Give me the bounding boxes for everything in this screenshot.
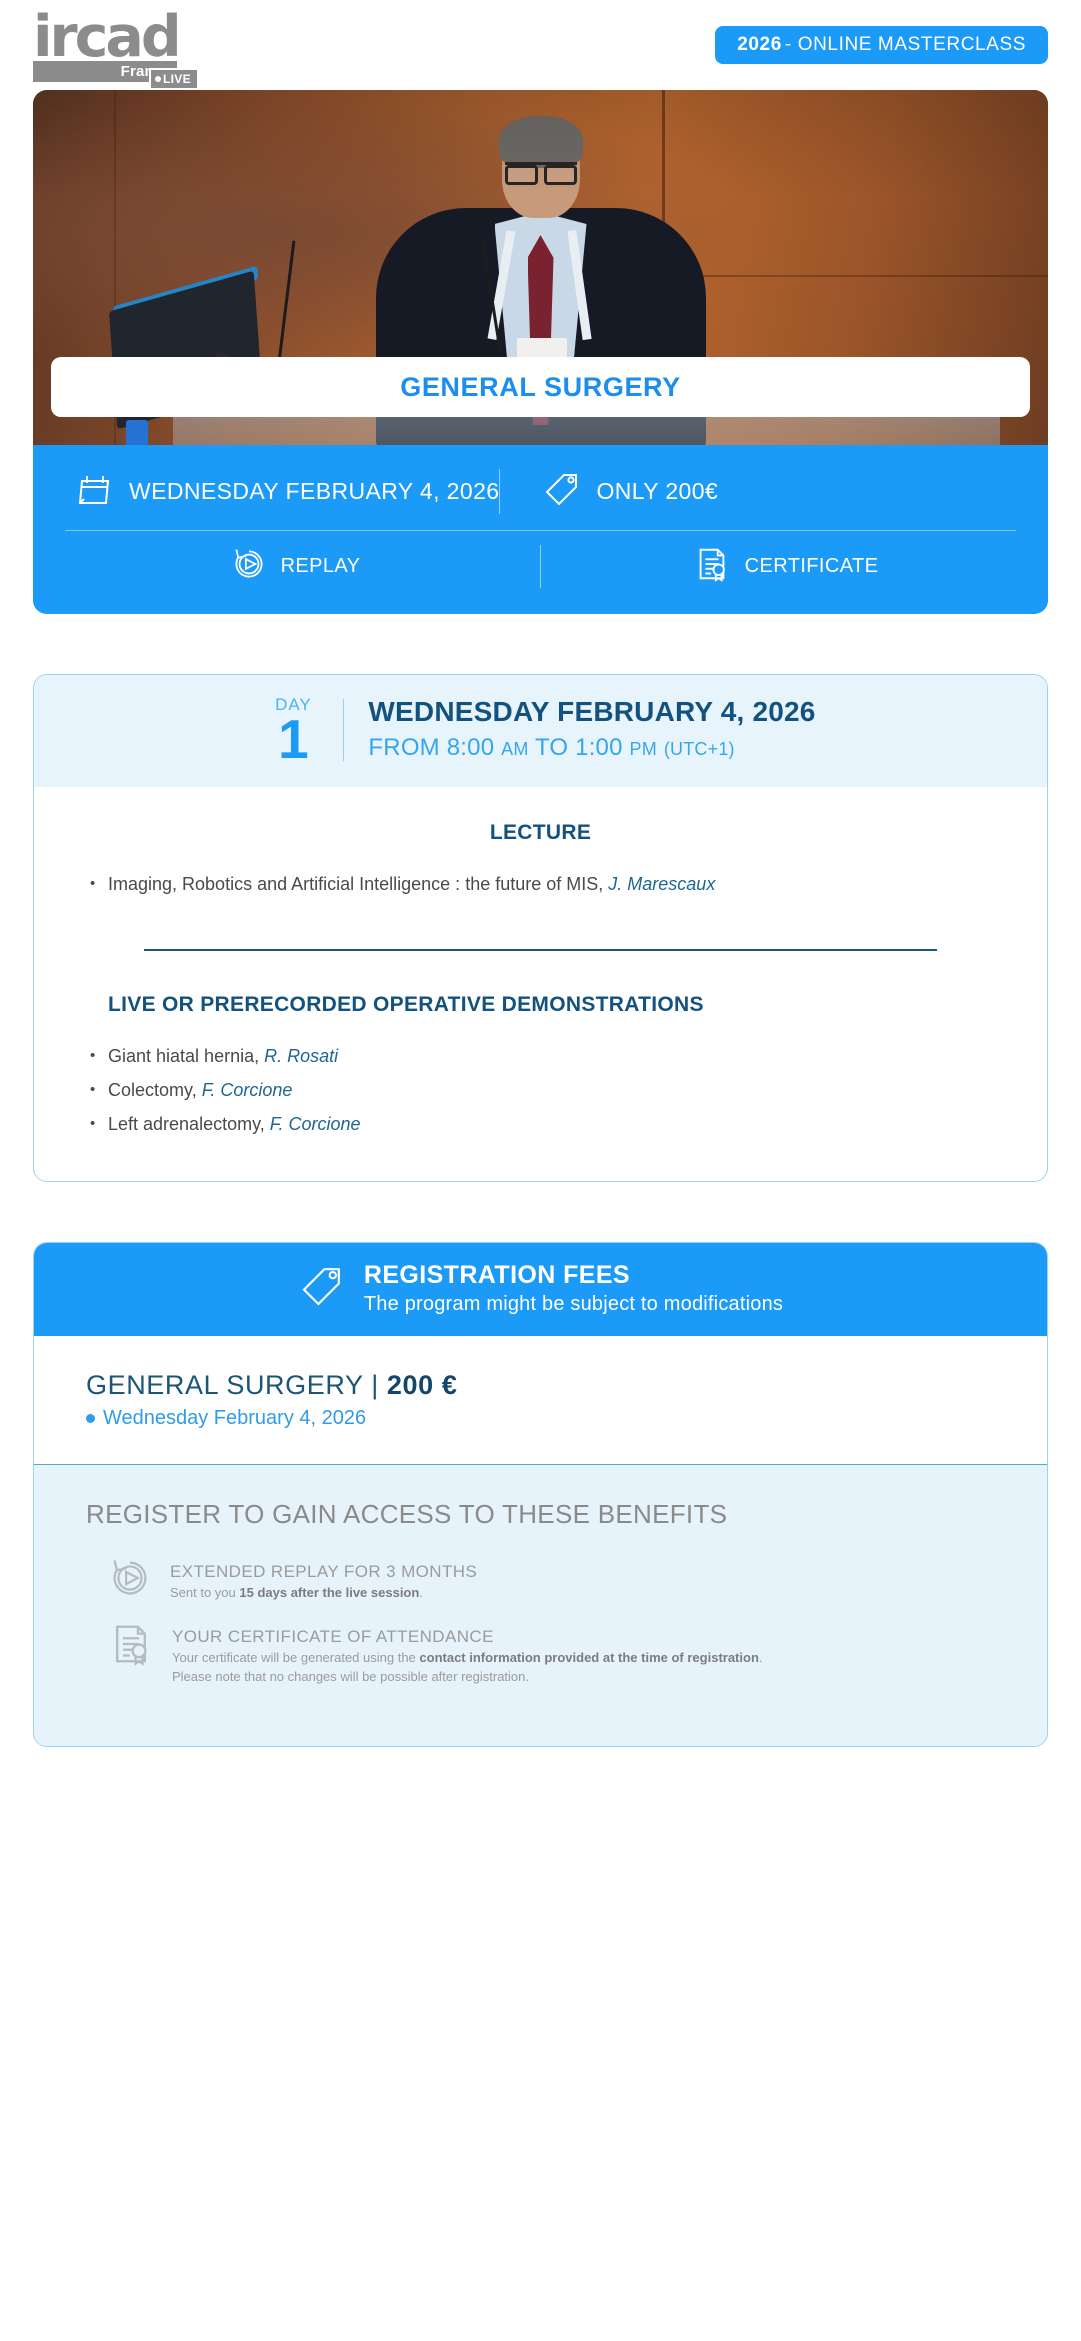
fee-date-row: Wednesday February 4, 2026	[86, 1407, 995, 1430]
program-body: LECTURE Imaging, Robotics and Artificial…	[34, 787, 1047, 1181]
tag-icon	[298, 1262, 346, 1315]
list-item: Colectomy, F. Corcione	[86, 1073, 995, 1107]
masterclass-text: - ONLINE MASTERCLASS	[785, 34, 1026, 56]
date-column: WEDNESDAY FEBRUARY 4, 2026 FROM 8:00 AM …	[344, 695, 815, 765]
calendar-icon	[75, 469, 115, 514]
benefit-certificate-texts: YOUR CERTIFICATE OF ATTENDANCE Your cert…	[172, 1621, 763, 1686]
registration-title: REGISTRATION FEES	[364, 1261, 783, 1291]
hero-card: ircad GENERAL SURGERY	[33, 90, 1048, 614]
time-pm: PM	[630, 739, 657, 759]
benefit-replay-desc-pre: Sent to you	[170, 1585, 239, 1600]
benefit-replay-texts: EXTENDED REPLAY FOR 3 MONTHS Sent to you…	[170, 1556, 477, 1602]
benefit-certificate-desc-bold: contact information provided at the time…	[419, 1650, 758, 1665]
demos-section-title: LIVE OR PRERECORDED OPERATIVE DEMONSTRAT…	[86, 993, 995, 1017]
tag-icon	[542, 469, 582, 514]
hero-date-label: WEDNESDAY FEBRUARY 4, 2026	[129, 478, 499, 505]
benefit-replay-desc-bold: 15 days after the live session	[239, 1585, 419, 1600]
demo-text: Giant hiatal hernia,	[108, 1046, 259, 1066]
program-card: DAY 1 WEDNESDAY FEBRUARY 4, 2026 FROM 8:…	[33, 674, 1048, 1182]
lecture-section-title: LECTURE	[86, 821, 995, 845]
lecture-list: Imaging, Robotics and Artificial Intelli…	[86, 867, 995, 901]
day-column: DAY 1	[265, 695, 343, 765]
list-item: Left adrenalectomy, F. Corcione	[86, 1107, 995, 1141]
certificate-icon	[108, 1621, 154, 1672]
program-day-header: DAY 1 WEDNESDAY FEBRUARY 4, 2026 FROM 8:…	[34, 675, 1047, 787]
time-am: AM	[501, 739, 528, 759]
benefit-certificate-desc-pre: Your certificate will be generated using…	[172, 1650, 419, 1665]
replay-icon	[231, 546, 267, 587]
program-date: WEDNESDAY FEBRUARY 4, 2026	[368, 695, 815, 729]
benefit-certificate: YOUR CERTIFICATE OF ATTENDANCE Your cert…	[86, 1621, 995, 1686]
masterclass-year: 2026	[737, 34, 782, 56]
masterclass-badge: 2026 - ONLINE MASTERCLASS	[715, 26, 1048, 64]
page-header: ircad France LIVE 2026 - ONLINE MASTERCL…	[0, 0, 1081, 90]
fee-line: GENERAL SURGERY | 200 €	[86, 1370, 995, 1401]
list-item: Imaging, Robotics and Artificial Intelli…	[86, 867, 995, 901]
ircad-logo[interactable]: ircad France LIVE	[33, 13, 243, 81]
benefit-certificate-title: YOUR CERTIFICATE OF ATTENDANCE	[172, 1626, 763, 1648]
demo-text: Left adrenalectomy,	[108, 1114, 265, 1134]
list-item: Giant hiatal hernia, R. Rosati	[86, 1039, 995, 1073]
hero-date-cell: WEDNESDAY FEBRUARY 4, 2026	[61, 469, 499, 514]
benefit-certificate-desc-post: .	[759, 1650, 763, 1665]
logo-live-label: LIVE	[163, 72, 191, 86]
benefits-title: REGISTER TO GAIN ACCESS TO THESE BENEFIT…	[86, 1499, 995, 1530]
hero-certificate-cell: CERTIFICATE	[541, 545, 1020, 588]
course-title-plate: GENERAL SURGERY	[51, 357, 1030, 417]
section-divider	[144, 949, 937, 951]
demo-speaker: F. Corcione	[202, 1080, 293, 1100]
fee-date: Wednesday February 4, 2026	[103, 1407, 366, 1430]
logo-wordmark: ircad	[33, 13, 179, 61]
course-title: GENERAL SURGERY	[400, 372, 681, 403]
lecture-text: Imaging, Robotics and Artificial Intelli…	[108, 874, 603, 894]
benefit-replay-title: EXTENDED REPLAY FOR 3 MONTHS	[170, 1561, 477, 1583]
day-number: 1	[265, 714, 321, 764]
fee-price: 200 €	[387, 1370, 458, 1400]
benefit-certificate-desc: Your certificate will be generated using…	[172, 1648, 763, 1667]
hero-photo: ircad GENERAL SURGERY	[33, 90, 1048, 445]
demo-speaker: F. Corcione	[270, 1114, 361, 1134]
logo-live-badge: LIVE	[149, 68, 199, 90]
demo-text: Colectomy,	[108, 1080, 197, 1100]
fee-course-name: GENERAL SURGERY |	[86, 1370, 387, 1400]
registration-body: GENERAL SURGERY | 200 € Wednesday Februa…	[34, 1336, 1047, 1464]
hero-certificate-label: CERTIFICATE	[745, 555, 879, 578]
benefit-certificate-desc2: Please note that no changes will be poss…	[172, 1667, 763, 1686]
registration-header: REGISTRATION FEES The program might be s…	[34, 1243, 1047, 1336]
hero-info-row-bottom: REPLAY CERTIFICATE	[61, 531, 1020, 592]
benefit-replay-desc-post: .	[419, 1585, 423, 1600]
time-to: TO 1:00	[535, 734, 623, 761]
hero-price-label: ONLY 200€	[596, 478, 718, 505]
hero-info-band: WEDNESDAY FEBRUARY 4, 2026 ONLY 200€	[33, 445, 1048, 614]
hero-replay-cell: REPLAY	[61, 546, 540, 587]
benefit-replay-desc: Sent to you 15 days after the live sessi…	[170, 1583, 477, 1602]
benefit-replay: EXTENDED REPLAY FOR 3 MONTHS Sent to you…	[86, 1556, 995, 1605]
time-timezone: (UTC+1)	[664, 739, 735, 759]
bullet-dot-icon	[86, 1414, 95, 1423]
program-time: FROM 8:00 AM TO 1:00 PM (UTC+1)	[368, 732, 815, 765]
registration-subtitle: The program might be subject to modifica…	[364, 1293, 783, 1317]
registration-header-texts: REGISTRATION FEES The program might be s…	[364, 1261, 783, 1316]
replay-icon	[108, 1556, 152, 1605]
certificate-icon	[693, 545, 731, 588]
demo-speaker: R. Rosati	[264, 1046, 338, 1066]
live-dot-icon	[155, 76, 161, 82]
lecture-speaker: J. Marescaux	[608, 874, 715, 894]
time-from: FROM 8:00	[368, 734, 494, 761]
hero-info-row-top: WEDNESDAY FEBRUARY 4, 2026 ONLY 200€	[61, 461, 1020, 530]
demos-list: Giant hiatal hernia, R. Rosati Colectomy…	[86, 1039, 995, 1141]
hero-price-cell: ONLY 200€	[500, 469, 718, 514]
benefits-section: REGISTER TO GAIN ACCESS TO THESE BENEFIT…	[34, 1464, 1047, 1746]
hero-replay-label: REPLAY	[281, 555, 361, 578]
registration-card: REGISTRATION FEES The program might be s…	[33, 1242, 1048, 1747]
